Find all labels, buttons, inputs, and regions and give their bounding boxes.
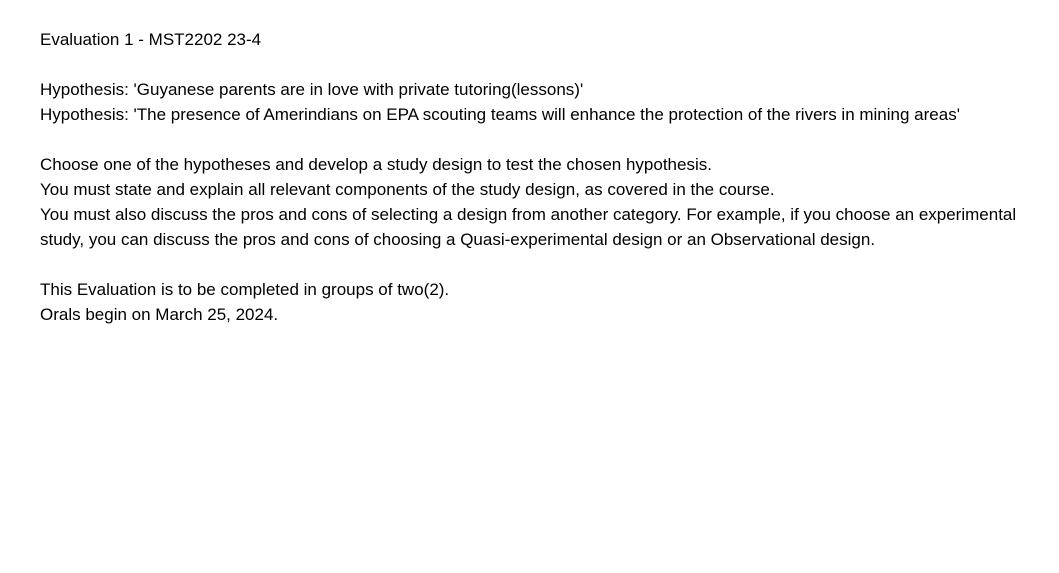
page-title: Evaluation 1 - MST2202 23-4 bbox=[40, 27, 1040, 52]
hypothesis-2: Hypothesis: 'The presence of Amerindians… bbox=[40, 105, 960, 124]
document-body: Evaluation 1 - MST2202 23-4 Hypothesis: … bbox=[40, 27, 1040, 327]
logistics-orals-date: Orals begin on March 25, 2024. bbox=[40, 305, 278, 324]
instructions-paragraph: Choose one of the hypotheses and develop… bbox=[40, 152, 1037, 252]
hypothesis-1: Hypothesis: 'Guyanese parents are in lov… bbox=[40, 80, 583, 99]
instruction-pros-and-cons: You must also discuss the pros and cons … bbox=[40, 205, 1021, 249]
document-page: Evaluation 1 - MST2202 23-4 Hypothesis: … bbox=[0, 0, 1059, 573]
logistics-group-size: This Evaluation is to be completed in gr… bbox=[40, 280, 449, 299]
instruction-choose-hypothesis: Choose one of the hypotheses and develop… bbox=[40, 155, 712, 174]
logistics-paragraph: This Evaluation is to be completed in gr… bbox=[40, 277, 1037, 327]
hypotheses-paragraph: Hypothesis: 'Guyanese parents are in lov… bbox=[40, 77, 1037, 127]
heading-line-1: Evaluation 1 - MST2202 23-4 bbox=[40, 27, 1040, 52]
instruction-state-components: You must state and explain all relevant … bbox=[40, 180, 775, 199]
